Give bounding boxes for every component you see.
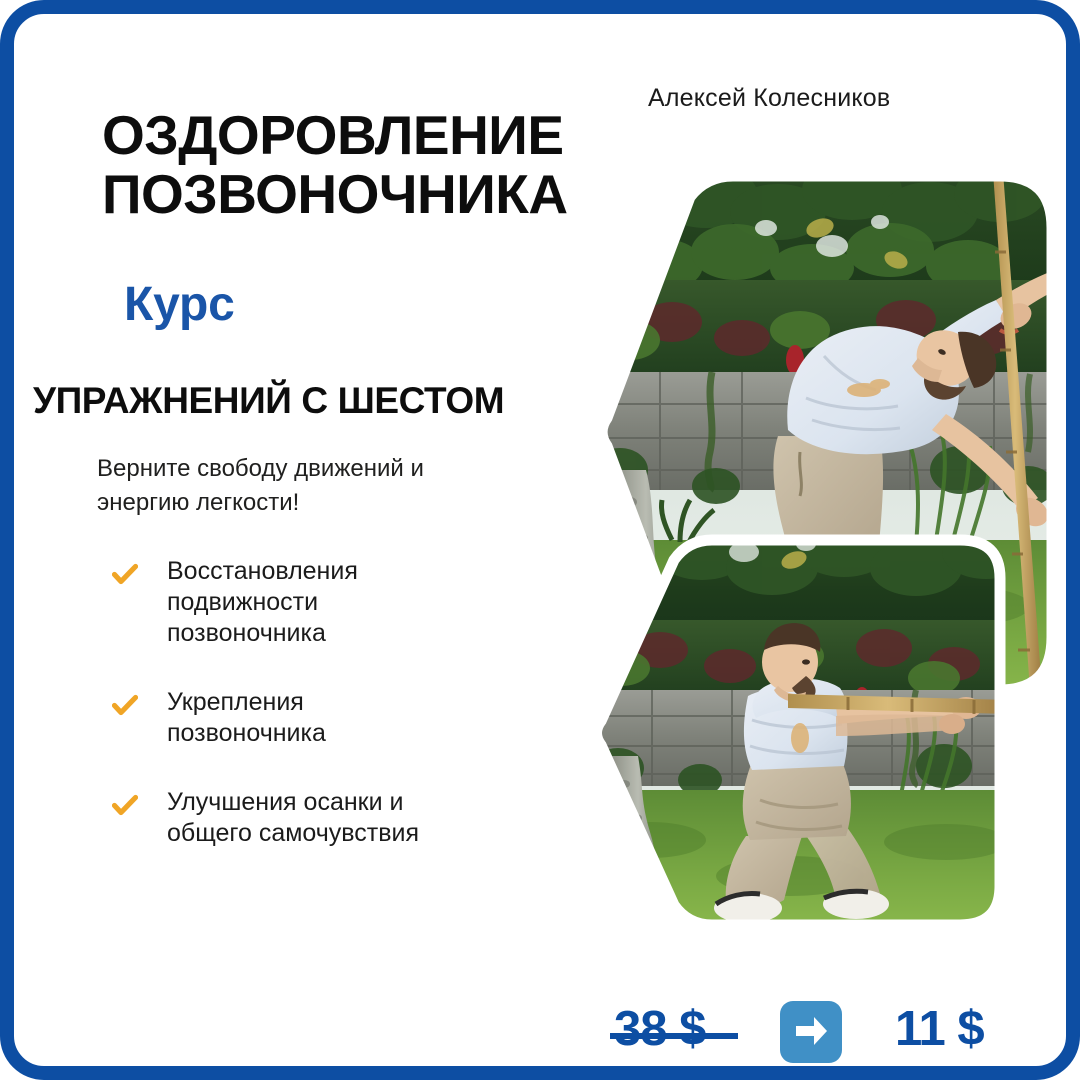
- page-title-line-2: ПОЗВОНОЧНИКА: [102, 165, 662, 224]
- list-item: Улучшения осанки и общего самочувствия: [112, 787, 582, 849]
- page-title-line-1: ОЗДОРОВЛЕНИЕ: [102, 104, 564, 166]
- check-icon: [112, 693, 138, 719]
- benefit-2-line-1: Укрепления: [167, 688, 304, 716]
- price-row: 38 $ 11 $: [600, 995, 1020, 1075]
- benefit-1-line-2: подвижности: [167, 588, 318, 616]
- course-label: Курс: [124, 277, 235, 332]
- benefits-list: Восстановления подвижности позвоночника …: [112, 556, 582, 887]
- list-item-label: Восстановления подвижности позвоночника: [167, 556, 358, 649]
- page-subtitle: УПРАЖНЕНИЙ С ШЕСТОМ: [33, 380, 504, 422]
- benefit-1-line-1: Восстановления: [167, 557, 358, 585]
- arrow-right-icon[interactable]: [780, 1001, 842, 1063]
- tagline-line-2: энергию легкости!: [97, 486, 517, 520]
- benefit-3-line-1: Улучшения осанки и: [167, 788, 403, 816]
- old-price-value: 38 $: [614, 1002, 705, 1056]
- author-name: Алексей Колесников: [648, 84, 890, 113]
- benefit-2-line-2: позвоночника: [167, 719, 326, 747]
- old-price: 38 $: [614, 1001, 705, 1057]
- benefit-1-line-3: позвоночника: [167, 619, 326, 647]
- check-icon: [112, 562, 138, 588]
- new-price: 11 $: [895, 1001, 984, 1057]
- list-item: Укрепления позвоночника: [112, 687, 582, 749]
- page-title: ОЗДОРОВЛЕНИЕ ПОЗВОНОЧНИКА: [102, 106, 662, 224]
- tagline-line-1: Верните свободу движений и: [97, 452, 517, 486]
- list-item: Восстановления подвижности позвоночника: [112, 556, 582, 649]
- poster-canvas: Алексей Колесников ОЗДОРОВЛЕНИЕ ПОЗВОНОЧ…: [0, 0, 1080, 1080]
- list-item-label: Улучшения осанки и общего самочувствия: [167, 787, 419, 849]
- benefit-3-line-2: общего самочувствия: [167, 819, 419, 847]
- strikethrough-line: [610, 1033, 738, 1039]
- check-icon: [112, 793, 138, 819]
- tagline: Верните свободу движений и энергию легко…: [97, 452, 517, 520]
- list-item-label: Укрепления позвоночника: [167, 687, 326, 749]
